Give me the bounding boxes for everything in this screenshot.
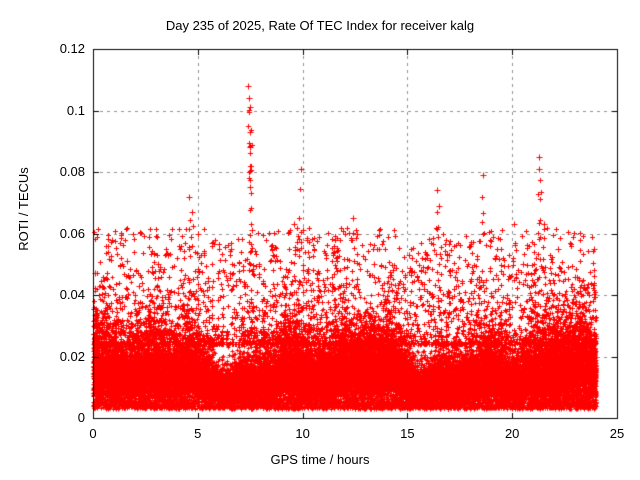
x-tick-label: 25 bbox=[587, 426, 640, 441]
y-tick-label: 0.08 bbox=[25, 164, 85, 179]
x-tick-label: 15 bbox=[377, 426, 437, 441]
x-tick-label: 5 bbox=[168, 426, 228, 441]
x-tick-label: 20 bbox=[482, 426, 542, 441]
y-tick-label: 0.06 bbox=[25, 226, 85, 241]
scatter-plot-canvas bbox=[0, 0, 640, 480]
y-tick-label: 0.04 bbox=[25, 287, 85, 302]
y-tick-label: 0 bbox=[25, 410, 85, 425]
x-axis-label: GPS time / hours bbox=[0, 452, 640, 467]
y-tick-label: 0.1 bbox=[25, 103, 85, 118]
x-tick-label: 0 bbox=[63, 426, 123, 441]
y-axis-label-container: ROTI / TECUs bbox=[15, 129, 33, 289]
y-tick-label: 0.12 bbox=[25, 41, 85, 56]
x-tick-label: 10 bbox=[273, 426, 333, 441]
y-tick-label: 0.02 bbox=[25, 349, 85, 364]
chart-figure: Day 235 of 2025, Rate Of TEC Index for r… bbox=[0, 0, 640, 480]
